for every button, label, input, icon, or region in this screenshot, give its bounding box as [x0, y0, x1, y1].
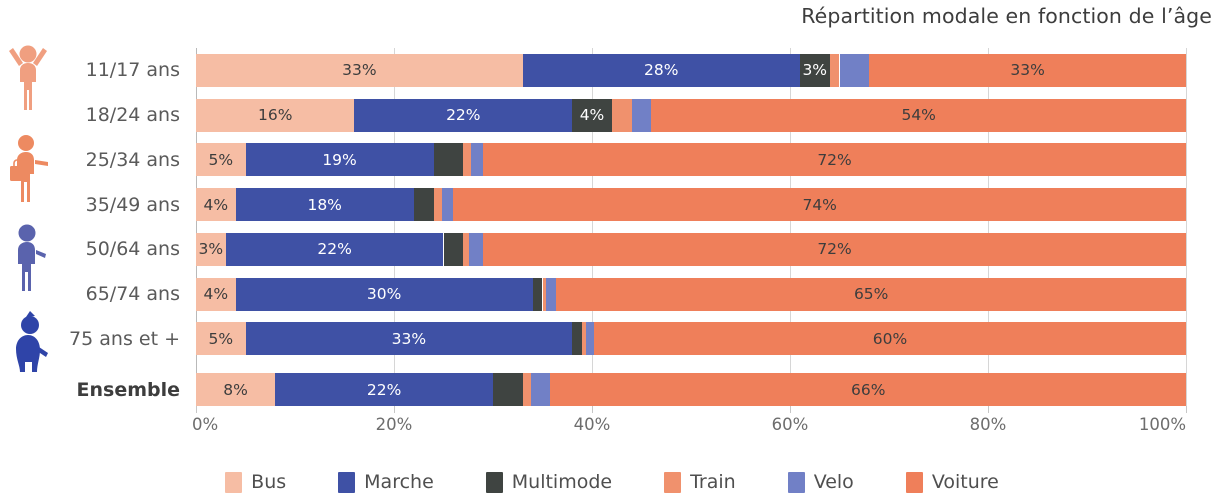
bar-row[interactable]: 4%30%65%	[196, 278, 1186, 311]
segment-value-label: 72%	[817, 151, 851, 169]
bar-segment-voiture[interactable]: 74%	[453, 188, 1186, 221]
bar-segment-multimode[interactable]: 4%	[572, 99, 612, 132]
segment-value-label: 33%	[392, 330, 426, 348]
legend-swatch-multimode-icon	[486, 472, 503, 493]
segment-value-label: 3%	[199, 240, 224, 258]
bar-segment-train[interactable]	[434, 188, 442, 221]
bar-segment-marche[interactable]: 22%	[354, 99, 572, 132]
segment-value-label: 8%	[223, 381, 248, 399]
bar-segment-velo[interactable]	[586, 322, 594, 355]
bar-segment-marche[interactable]: 33%	[246, 322, 573, 355]
bar-row[interactable]: 33%28%3%33%	[196, 54, 1186, 87]
bar-segment-bus[interactable]: 4%	[196, 278, 236, 311]
x-tick-label-100: 100%	[1139, 415, 1186, 434]
y-axis-label-0: 11/17 ans	[86, 48, 180, 93]
legend-item-velo[interactable]: Velo	[788, 471, 854, 493]
bar-segment-multimode[interactable]	[533, 278, 543, 311]
bar-segment-marche[interactable]: 22%	[275, 373, 493, 406]
bar-segment-bus[interactable]: 3%	[196, 233, 226, 266]
x-tick-20	[394, 406, 395, 413]
stacked-bar: 5%19%72%	[196, 143, 1186, 176]
x-tick-label-40: 40%	[574, 415, 611, 434]
x-tick-60	[790, 406, 791, 413]
stacked-bar: 4%30%65%	[196, 278, 1186, 311]
stacked-bar: 8%22%66%	[196, 373, 1186, 406]
stacked-bar: 33%28%3%33%	[196, 54, 1186, 87]
segment-value-label: 22%	[317, 240, 351, 258]
y-axis-label-7: Ensemble	[77, 367, 181, 412]
segment-value-label: 60%	[873, 330, 907, 348]
bar-segment-velo[interactable]	[546, 278, 556, 311]
y-axis-label-1: 18/24 ans	[86, 93, 180, 138]
legend-item-train[interactable]: Train	[664, 471, 736, 493]
legend-swatch-velo-icon	[788, 472, 805, 493]
segment-value-label: 74%	[802, 196, 836, 214]
bar-segment-voiture[interactable]: 72%	[483, 233, 1186, 266]
segment-value-label: 66%	[851, 381, 885, 399]
bar-row[interactable]: 5%33%60%	[196, 322, 1186, 355]
x-axis: 0%20%40%60%80%100%	[196, 406, 1186, 440]
bar-row[interactable]: 3%22%72%	[196, 233, 1186, 266]
x-tick-0	[196, 406, 197, 413]
legend: BusMarcheMultimodeTrainVeloVoiture	[0, 462, 1224, 502]
segment-value-label: 33%	[1010, 61, 1044, 79]
legend-label: Marche	[364, 471, 434, 493]
stacked-bar: 4%18%74%	[196, 188, 1186, 221]
bar-segment-train[interactable]	[523, 373, 531, 406]
legend-label: Multimode	[512, 471, 612, 493]
bar-segment-marche[interactable]: 28%	[523, 54, 800, 87]
bar-segment-bus[interactable]: 16%	[196, 99, 354, 132]
y-axis-label-4: 50/64 ans	[86, 227, 180, 272]
segment-value-label: 19%	[322, 151, 356, 169]
x-tick-label-0: 0%	[192, 415, 218, 434]
bar-segment-marche[interactable]: 19%	[246, 143, 434, 176]
y-axis-label-5: 65/74 ans	[86, 272, 180, 317]
segment-value-label: 28%	[644, 61, 678, 79]
legend-label: Velo	[814, 471, 854, 493]
bar-segment-multimode[interactable]	[414, 188, 434, 221]
legend-label: Bus	[251, 471, 286, 493]
segment-value-label: 5%	[208, 151, 233, 169]
bar-segment-train[interactable]	[830, 54, 840, 87]
segment-value-label: 5%	[208, 330, 233, 348]
x-tick-40	[592, 406, 593, 413]
bar-row[interactable]: 5%19%72%	[196, 143, 1186, 176]
bar-segment-marche[interactable]: 22%	[226, 233, 444, 266]
bar-segment-velo[interactable]	[531, 373, 551, 406]
bar-segment-velo[interactable]	[471, 143, 483, 176]
stacked-bar: 16%22%4%54%	[196, 99, 1186, 132]
bar-segment-voiture[interactable]: 66%	[550, 373, 1186, 406]
bar-row[interactable]: 8%22%66%	[196, 373, 1186, 406]
bar-segment-velo[interactable]	[632, 99, 652, 132]
legend-label: Voiture	[932, 471, 999, 493]
segment-value-label: 4%	[204, 196, 229, 214]
y-axis-labels: 11/17 ans18/24 ans25/34 ans35/49 ans50/6…	[0, 48, 188, 406]
bar-segment-velo[interactable]	[442, 188, 454, 221]
legend-item-marche[interactable]: Marche	[338, 471, 434, 493]
y-axis-label-3: 35/49 ans	[86, 182, 180, 227]
bar-segment-multimode[interactable]: 3%	[800, 54, 830, 87]
segment-value-label: 22%	[367, 381, 401, 399]
bar-row[interactable]: 16%22%4%54%	[196, 99, 1186, 132]
x-tick-80	[988, 406, 989, 413]
bar-segment-train[interactable]	[463, 143, 471, 176]
segment-value-label: 18%	[307, 196, 341, 214]
legend-item-voiture[interactable]: Voiture	[906, 471, 999, 493]
segment-value-label: 4%	[204, 285, 229, 303]
segment-value-label: 4%	[580, 106, 605, 124]
bar-segment-multimode[interactable]	[493, 373, 523, 406]
stacked-bar: 3%22%72%	[196, 233, 1186, 266]
x-tick-label-60: 60%	[772, 415, 809, 434]
y-axis-label-2: 25/34 ans	[86, 138, 180, 183]
chart-root: Répartition modale en fonction de l’âge …	[0, 0, 1224, 502]
x-tick-100	[1186, 406, 1187, 413]
legend-item-multimode[interactable]: Multimode	[486, 471, 612, 493]
bar-row[interactable]: 4%18%74%	[196, 188, 1186, 221]
bar-segment-bus[interactable]: 5%	[196, 143, 246, 176]
bar-segment-bus[interactable]: 33%	[196, 54, 523, 87]
stacked-bar: 5%33%60%	[196, 322, 1186, 355]
gridline-100	[1186, 48, 1187, 406]
y-axis-label-6: 75 ans et +	[69, 317, 180, 362]
legend-swatch-bus-icon	[225, 472, 242, 493]
legend-swatch-train-icon	[664, 472, 681, 493]
plot-area: 33%28%3%33%16%22%4%54%5%19%72%4%18%74%3%…	[196, 48, 1186, 406]
chart-title: Répartition modale en fonction de l’âge	[0, 4, 1212, 28]
legend-item-bus[interactable]: Bus	[225, 471, 286, 493]
bar-segment-voiture[interactable]: 72%	[483, 143, 1186, 176]
bar-segment-marche[interactable]: 30%	[236, 278, 533, 311]
bar-segment-bus[interactable]: 8%	[196, 373, 275, 406]
x-tick-label-20: 20%	[376, 415, 413, 434]
segment-value-label: 30%	[367, 285, 401, 303]
bar-segment-train[interactable]	[612, 99, 632, 132]
bar-segment-multimode[interactable]	[572, 322, 582, 355]
bar-segment-multimode[interactable]	[434, 143, 464, 176]
x-tick-label-80: 80%	[970, 415, 1007, 434]
segment-value-label: 33%	[342, 61, 376, 79]
legend-swatch-marche-icon	[338, 472, 355, 493]
bar-segment-voiture[interactable]: 33%	[869, 54, 1186, 87]
segment-value-label: 16%	[258, 106, 292, 124]
segment-value-label: 3%	[802, 61, 827, 79]
bar-segment-velo[interactable]	[840, 54, 870, 87]
legend-swatch-voiture-icon	[906, 472, 923, 493]
bar-segment-marche[interactable]: 18%	[236, 188, 414, 221]
bar-segment-voiture[interactable]: 65%	[556, 278, 1186, 311]
segment-value-label: 22%	[446, 106, 480, 124]
bar-rows: 33%28%3%33%16%22%4%54%5%19%72%4%18%74%3%…	[196, 48, 1186, 406]
segment-value-label: 65%	[854, 285, 888, 303]
bar-segment-bus[interactable]: 4%	[196, 188, 236, 221]
bar-segment-bus[interactable]: 5%	[196, 322, 246, 355]
bar-segment-voiture[interactable]: 54%	[651, 99, 1186, 132]
segment-value-label: 54%	[901, 106, 935, 124]
bar-segment-voiture[interactable]: 60%	[594, 322, 1186, 355]
bar-segment-velo[interactable]	[469, 233, 483, 266]
segment-value-label: 72%	[817, 240, 851, 258]
legend-label: Train	[690, 471, 736, 493]
bar-segment-multimode[interactable]	[444, 233, 464, 266]
